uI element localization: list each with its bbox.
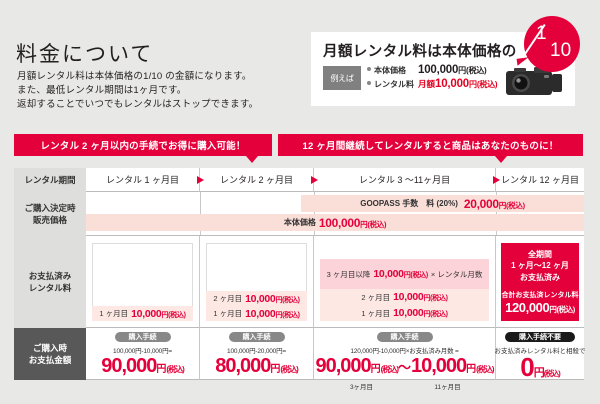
base-price-bar: 本体価格 100,000円(税込) bbox=[86, 214, 584, 231]
purchase-amount: 80,000円(税込) bbox=[215, 355, 298, 381]
paid-band: 1 ヶ月目 10,000円(税込) bbox=[320, 305, 489, 321]
example-value: 100,000円(税込) bbox=[418, 64, 487, 76]
bullet-icon bbox=[367, 67, 371, 71]
example-badge: 例えば bbox=[323, 66, 361, 90]
banner-right-text: 12 ヶ月間継続してレンタルすると商品はあなたのものに！ bbox=[302, 138, 558, 152]
banner-tail bbox=[246, 156, 258, 163]
example-row-rental-fee: レンタル料 月額 10,000円(税込) bbox=[367, 78, 497, 92]
table-row-purchase-payment: ご購入時 お支払金額 購入手続 100,000円-10,000円= 90,000… bbox=[14, 328, 584, 380]
purchase-amount: 90,000円(税込) bbox=[101, 355, 184, 381]
example-label: レンタル料 bbox=[374, 79, 418, 90]
paid-band: 1 ヶ月目 10,000円(税込) bbox=[206, 306, 307, 321]
lead-line-2: また、最低レンタル期間は1ヶ月です。 bbox=[17, 84, 258, 98]
page-title: 料金について bbox=[16, 38, 153, 68]
all-period-line2: 1 ヶ月〜12 ヶ月 bbox=[511, 260, 569, 272]
banner-tail bbox=[495, 156, 507, 163]
header-section: 料金について 月額レンタル料は本体価格の1/10 の金額になります。 また、最低… bbox=[0, 0, 600, 128]
no-procedure-pill: 購入手続不要 bbox=[505, 332, 575, 342]
purchase-amount-range: 90,000円(税込) 〜 10,000円(税込) bbox=[315, 355, 493, 381]
paid-band: 2 ヶ月目 10,000円(税込) bbox=[206, 291, 307, 306]
example-label: 本体価格 bbox=[374, 65, 418, 76]
purchase-procedure-pill[interactable]: 購入手続 bbox=[115, 332, 171, 342]
lead-line-3: 返却することでいつでもレンタルはストップできます。 bbox=[17, 98, 258, 112]
range-note-to: 11ヶ月目 bbox=[405, 381, 491, 391]
offset-note: お支払済みレンタル料と相殺で bbox=[495, 345, 586, 355]
table-row-paid-rental: お支払済み レンタル料 1 ヶ月目 10,000円(税込) bbox=[14, 236, 584, 328]
all-period-summary: 全期間 1 ヶ月〜12 ヶ月 お支払済み 合計お支払済レンタル料 120,000… bbox=[501, 243, 579, 321]
column-header-month2: レンタル 2 ヶ月目 bbox=[200, 168, 314, 192]
goopass-fee-label: GOOPASS 手数 料 (20%) bbox=[360, 198, 458, 209]
all-period-line1: 全期間 bbox=[528, 249, 552, 261]
example-prefix: 月額 bbox=[418, 78, 435, 90]
purchase-procedure-pill[interactable]: 購入手続 bbox=[229, 332, 285, 342]
sale-price-cells: GOOPASS 手数 料 (20%) 20,000円(税込) 本体価格 100,… bbox=[86, 192, 584, 236]
base-price-label: 本体価格 bbox=[284, 217, 316, 228]
pay-cell-month3to11: 購入手続 120,000円-10,000円×お支払済み月数 = 90,000円(… bbox=[314, 328, 496, 380]
arrow-right-icon bbox=[493, 176, 500, 184]
all-period-total-label: 合計お支払済レンタル料 bbox=[502, 290, 579, 300]
range-note-from: 3ヶ月目 bbox=[319, 381, 405, 391]
paid-stack: 2 ヶ月目 10,000円(税込) 1 ヶ月目 10,000円(税込) bbox=[206, 291, 307, 321]
pay-cell-month12: 購入手続不要 お支払済みレンタル料と相殺で 0円(税込) bbox=[496, 328, 584, 380]
pay-cell-month1: 購入手続 100,000円-10,000円= 90,000円(税込) bbox=[86, 328, 200, 380]
banner-left-text: レンタル 2 ヶ月以内の手続でお得に購入可能！ bbox=[40, 138, 245, 152]
paid-stack: 1 ヶ月目 10,000円(税込) bbox=[92, 306, 193, 321]
lead-paragraph: 月額レンタル料は本体価格の1/10 の金額になります。 また、最低レンタル期間は… bbox=[17, 70, 258, 112]
paid-stack-wrapper: 1 ヶ月目 10,000円(税込) bbox=[92, 243, 193, 321]
paid-cell-month2: 2 ヶ月目 10,000円(税込) 1 ヶ月目 10,000円(税込) bbox=[200, 236, 314, 328]
one-tenth-badge: 1 10 bbox=[524, 16, 580, 72]
pay-cell-month2: 購入手続 100,000円-20,000円= 80,000円(税込) bbox=[200, 328, 314, 380]
range-month-notes: 3ヶ月目 11ヶ月目 bbox=[314, 381, 495, 391]
example-row-body-price: 本体価格 100,000円(税込) bbox=[367, 64, 497, 78]
badge-denominator: 10 bbox=[550, 40, 571, 62]
column-header-month3to11: レンタル 3 〜11ヶ月目 bbox=[314, 168, 496, 192]
paid-stack-wrapper: 3 ヶ月目以降 10,000円(税込) × レンタル月数 2 ヶ月目 10,00… bbox=[320, 243, 489, 321]
calc-expression: 100,000円-20,000円= bbox=[227, 345, 286, 355]
purchase-amount-from: 90,000円(税込) bbox=[315, 355, 398, 381]
row-label-sale-price: ご購入決定時 販売価格 bbox=[14, 192, 86, 236]
table-row-period: レンタル期間 レンタル 1 ヶ月目 レンタル 2 ヶ月目 レンタル 3 〜11ヶ… bbox=[14, 168, 584, 192]
calc-expression: 100,000円-10,000円= bbox=[113, 345, 172, 355]
all-period-total-amount: 120,000円(税込) bbox=[505, 300, 575, 315]
base-price-amount: 100,000円(税込) bbox=[319, 216, 386, 230]
row-label-period: レンタル期間 bbox=[14, 168, 86, 192]
paid-cell-month12: 全期間 1 ヶ月〜12 ヶ月 お支払済み 合計お支払済レンタル料 120,000… bbox=[496, 236, 584, 328]
purchase-procedure-pill[interactable]: 購入手続 bbox=[377, 332, 433, 342]
banner-12months-ownership: 12 ヶ月間継続してレンタルすると商品はあなたのものに！ bbox=[278, 134, 583, 156]
lead-line-1: 月額レンタル料は本体価格の1/10 の金額になります。 bbox=[17, 70, 258, 84]
arrow-right-icon bbox=[197, 176, 204, 184]
paid-stack-wrapper: 2 ヶ月目 10,000円(税込) 1 ヶ月目 10,000円(税込) bbox=[206, 243, 307, 321]
purchase-amount-zero: 0円(税込) bbox=[520, 355, 559, 386]
calc-expression: 120,000円-10,000円×お支払済み月数 = bbox=[350, 345, 458, 355]
goopass-fee-bar: GOOPASS 手数 料 (20%) 20,000円(税込) bbox=[301, 195, 584, 212]
pricing-table: レンタル期間 レンタル 1 ヶ月目 レンタル 2 ヶ月目 レンタル 3 〜11ヶ… bbox=[14, 168, 584, 380]
paid-cell-month3to11: 3 ヶ月目以降 10,000円(税込) × レンタル月数 2 ヶ月目 10,00… bbox=[314, 236, 496, 328]
arrow-right-icon bbox=[311, 176, 318, 184]
row-label-purchase-payment: ご購入時 お支払金額 bbox=[14, 328, 86, 380]
promo-headline: 月額レンタル料は本体価格の bbox=[323, 40, 517, 61]
purchase-amount-to: 10,000円(税込) bbox=[411, 355, 494, 381]
paid-band-ongoing: 3 ヶ月目以降 10,000円(税込) × レンタル月数 bbox=[320, 259, 489, 289]
column-header-month1: レンタル 1 ヶ月目 bbox=[86, 168, 200, 192]
goopass-fee-amount: 20,000円(税込) bbox=[464, 197, 525, 211]
column-header-month12: レンタル 12 ヶ月目 bbox=[496, 168, 584, 192]
paid-band: 2 ヶ月目 10,000円(税込) bbox=[320, 289, 489, 305]
example-rows: 本体価格 100,000円(税込) レンタル料 月額 10,000円(税込) bbox=[367, 64, 497, 92]
example-value: 10,000円(税込) bbox=[435, 78, 497, 90]
paid-cell-month1: 1 ヶ月目 10,000円(税込) bbox=[86, 236, 200, 328]
paid-stack: 3 ヶ月目以降 10,000円(税込) × レンタル月数 2 ヶ月目 10,00… bbox=[320, 259, 489, 321]
all-period-line3: お支払済み bbox=[520, 272, 560, 284]
range-tilde: 〜 bbox=[398, 357, 411, 376]
row-label-paid-rental: お支払済み レンタル料 bbox=[14, 236, 86, 328]
banner-purchase-within-2months: レンタル 2 ヶ月以内の手続でお得に購入可能！ bbox=[14, 134, 272, 156]
table-row-sale-price: ご購入決定時 販売価格 GOOPASS 手数 料 (20%) 20,000円(税… bbox=[14, 192, 584, 236]
bullet-icon bbox=[367, 81, 371, 85]
paid-band: 1 ヶ月目 10,000円(税込) bbox=[92, 306, 193, 321]
